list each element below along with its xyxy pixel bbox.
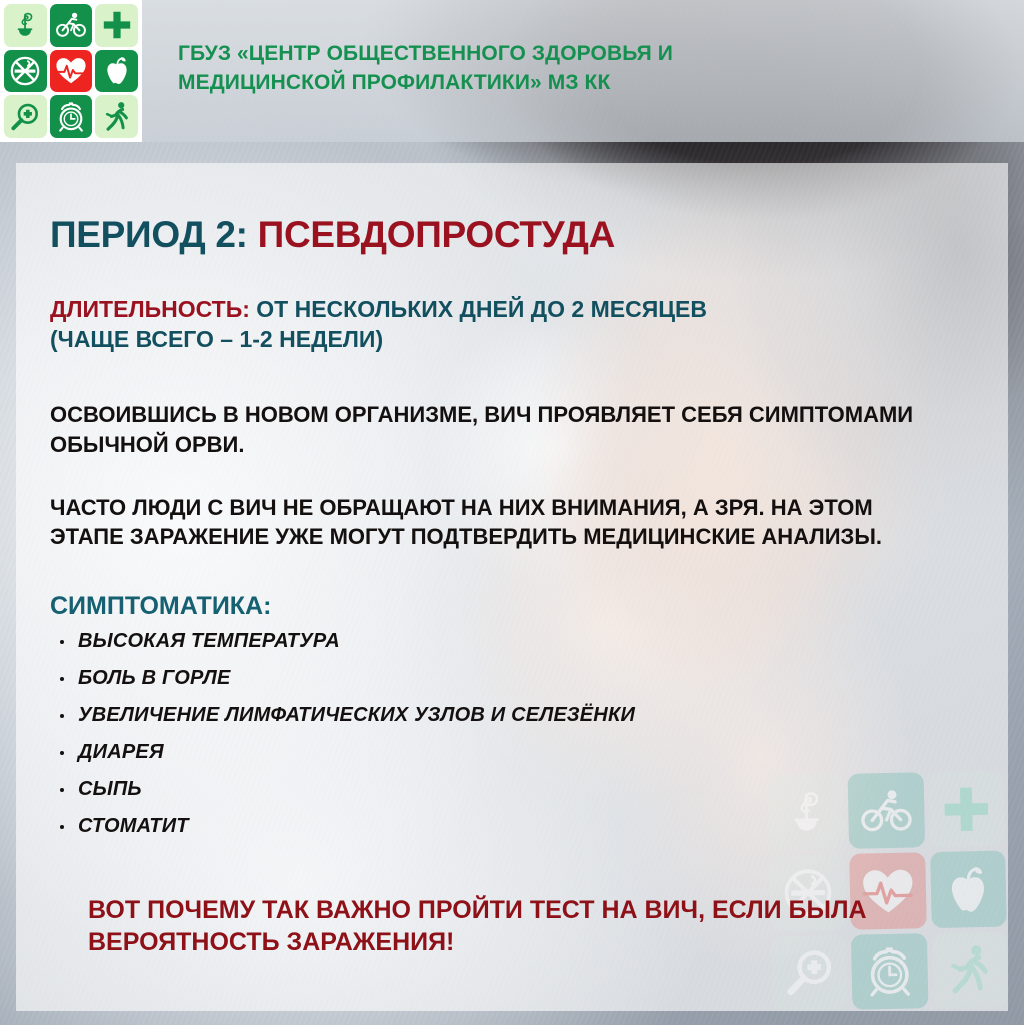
page-title-period: ПЕРИОД 2: — [50, 214, 258, 255]
organization-name-line2: МЕДИЦИНСКОЙ ПРОФИЛАКТИКИ» МЗ КК — [178, 71, 610, 94]
bowl-of-hygieia-icon — [10, 10, 40, 40]
logo-tile-alarm-clock — [50, 95, 93, 138]
apple-icon — [102, 55, 132, 86]
list-item: ДИАРЕЯ — [50, 742, 950, 762]
paragraph-first: ОСВОИВШИСЬ В НОВОМ ОРГАНИЗМЕ, ВИЧ ПРОЯВЛ… — [50, 400, 930, 459]
logo-tile-no-smoking — [4, 50, 47, 93]
heart-pulse-icon — [55, 56, 87, 85]
logo-tile-runner — [95, 95, 138, 138]
logo-tile-apple — [95, 50, 138, 93]
list-item: УВЕЛИЧЕНИЕ ЛИМФАТИЧЕСКИХ УЗЛОВ И СЕЛЕЗЁН… — [50, 705, 950, 725]
medical-cross-icon — [943, 786, 990, 833]
page-title-name: ПСЕВДОПРОСТУДА — [258, 214, 615, 255]
logo-tile-heart-pulse — [50, 50, 93, 93]
main-content: ПЕРИОД 2: ПСЕВДОПРОСТУДА ДЛИТЕЛЬНОСТЬ: О… — [50, 215, 950, 958]
list-item: ВЫСОКАЯ ТЕМПЕРАТУРА — [50, 631, 950, 651]
list-item: СЫПЬ — [50, 779, 950, 799]
duration-label: ДЛИТЕЛЬНОСТЬ: — [50, 296, 256, 322]
symptoms-heading: СИМПТОМАТИКА: — [50, 591, 950, 621]
runner-icon — [102, 101, 132, 132]
organization-name: ГБУЗ «ЦЕНТР ОБЩЕСТВЕННОГО ЗДОРОВЬЯ И МЕД… — [178, 40, 878, 98]
apple-icon — [943, 863, 994, 916]
no-smoking-icon — [9, 55, 41, 87]
medical-cross-icon — [103, 11, 131, 39]
header-text-block: ГБУЗ «ЦЕНТР ОБЩЕСТВЕННОГО ЗДОРОВЬЯ И МЕД… — [178, 40, 878, 98]
duration-block: ДЛИТЕЛЬНОСТЬ: ОТ НЕСКОЛЬКИХ ДНЕЙ ДО 2 МЕ… — [50, 294, 950, 355]
magnifier-plus-icon — [10, 102, 40, 132]
logo-tile-magnifier-plus — [4, 95, 47, 138]
logo-tile-medical-cross — [95, 4, 138, 47]
symptoms-list: ВЫСОКАЯ ТЕМПЕРАТУРА БОЛЬ В ГОРЛЕ УВЕЛИЧЕ… — [50, 631, 950, 836]
list-item: БОЛЬ В ГОРЛЕ — [50, 668, 950, 688]
organization-name-line1: ГБУЗ «ЦЕНТР ОБЩЕСТВЕННОГО ЗДОРОВЬЯ И — [178, 42, 673, 65]
list-item: СТОМАТИТ — [50, 816, 950, 836]
runner-icon — [944, 943, 995, 996]
paragraph-second: ЧАСТО ЛЮДИ С ВИЧ НЕ ОБРАЩАЮТ НА НИХ ВНИМ… — [50, 493, 930, 552]
callout-message: ВОТ ПОЧЕМУ ТАК ВАЖНО ПРОЙТИ ТЕСТ НА ВИЧ,… — [88, 894, 948, 958]
header-band: ГБУЗ «ЦЕНТР ОБЩЕСТВЕННОГО ЗДОРОВЬЯ И МЕД… — [0, 0, 1024, 142]
duration-value-line2: (ЧАЩЕ ВСЕГО – 1-2 НЕДЕЛИ) — [50, 326, 383, 352]
logo-tile-bowl-of-hygieia — [4, 4, 47, 47]
organization-logo — [0, 0, 142, 142]
alarm-clock-icon — [56, 101, 86, 132]
page-title: ПЕРИОД 2: ПСЕВДОПРОСТУДА — [50, 215, 950, 256]
cyclist-icon — [55, 10, 87, 40]
duration-value-line1: ОТ НЕСКОЛЬКИХ ДНЕЙ ДО 2 МЕСЯЦЕВ — [256, 296, 707, 322]
infographic-poster: ГБУЗ «ЦЕНТР ОБЩЕСТВЕННОГО ЗДОРОВЬЯ И МЕД… — [0, 0, 1024, 1025]
logo-tile-cyclist — [50, 4, 93, 47]
